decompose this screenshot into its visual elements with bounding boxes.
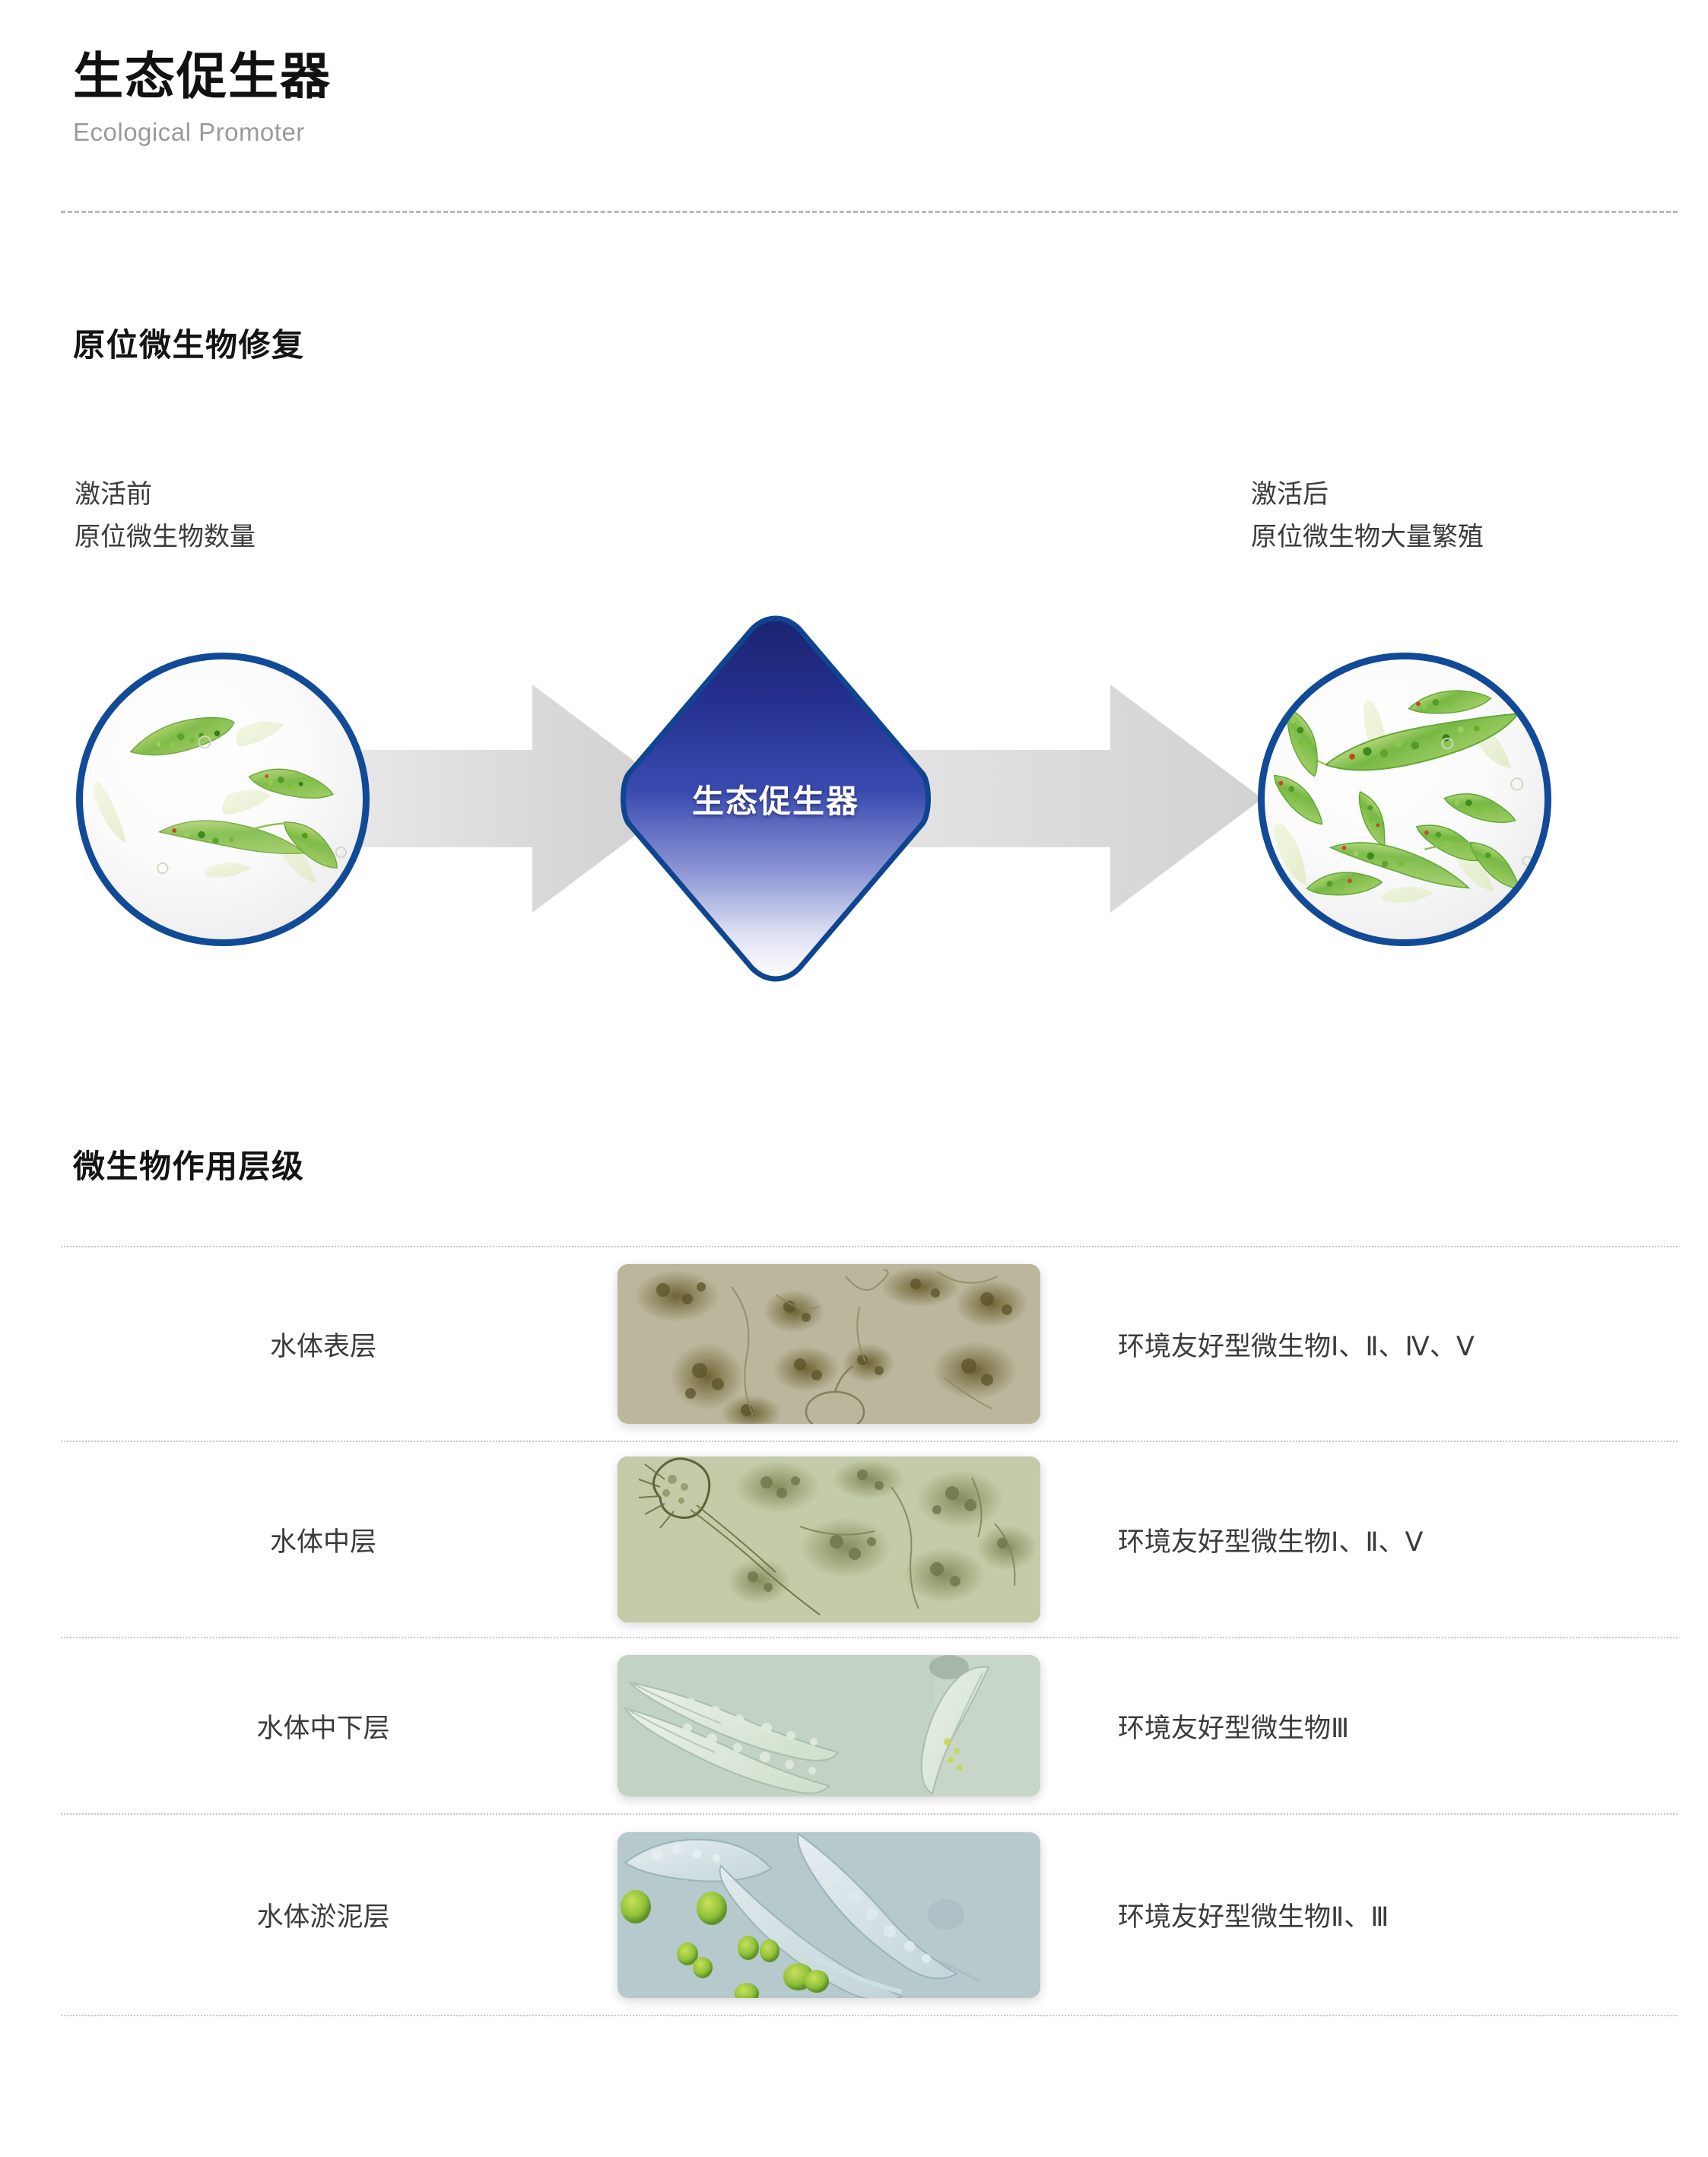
flow-label-before-line1: 激活前 — [75, 473, 256, 516]
table-row: 水体中层 — [61, 1442, 1678, 1638]
flow-diagram: 激活前 原位微生物数量 激活后 原位微生物大量繁殖 — [0, 456, 1708, 1012]
layer-description: 环境友好型微生物Ⅰ、Ⅱ、Ⅴ — [1072, 1520, 1678, 1559]
layer-label: 水体中层 — [61, 1520, 586, 1559]
flow-label-before-line2: 原位微生物数量 — [75, 516, 256, 558]
flow-label-after-line2: 原位微生物大量繁殖 — [1251, 516, 1484, 558]
flow-label-after: 激活后 原位微生物大量繁殖 — [1251, 473, 1484, 558]
diamond-promoter: 生态促生器 — [612, 612, 939, 985]
table-row: 水体中下层 — [61, 1638, 1678, 1815]
layer-image-cell — [586, 1457, 1072, 1622]
layer-label: 水体淤泥层 — [61, 1895, 586, 1934]
layer-label: 水体中下层 — [61, 1707, 586, 1746]
layer-image-cell — [586, 1264, 1072, 1424]
flow-label-after-line1: 激活后 — [1251, 473, 1484, 516]
header-divider — [61, 211, 1678, 213]
circle-before-activation — [76, 653, 370, 946]
page-subtitle: Ecological Promoter — [73, 118, 332, 147]
layer-image-cell — [586, 1655, 1072, 1796]
microbe-layer-table: 水体表层 — [61, 1246, 1678, 2016]
flow-label-before: 激活前 原位微生物数量 — [75, 473, 256, 558]
diamond-label: 生态促生器 — [612, 612, 939, 985]
layer-label: 水体表层 — [61, 1325, 586, 1364]
table-row: 水体表层 — [61, 1246, 1678, 1442]
section-heading-microbe-layers: 微生物作用层级 — [73, 1141, 305, 1187]
circle-after-activation — [1258, 653, 1551, 946]
page-header: 生态促生器 Ecological Promoter — [73, 49, 332, 147]
micrograph-surface-layer — [617, 1264, 1040, 1424]
micrograph-lower-middle-layer — [617, 1655, 1040, 1796]
layer-image-cell — [586, 1832, 1072, 1998]
layer-description: 环境友好型微生物Ⅰ、Ⅱ、Ⅳ、Ⅴ — [1072, 1325, 1678, 1364]
table-row: 水体淤泥层 — [61, 1815, 1678, 2016]
page-root: 生态促生器 Ecological Promoter 原位微生物修复 激活前 原位… — [0, 0, 1708, 2157]
micrograph-middle-layer — [617, 1457, 1040, 1622]
page-title: 生态促生器 — [73, 49, 332, 104]
layer-description: 环境友好型微生物Ⅲ — [1072, 1707, 1678, 1746]
section-heading-insitu-remediation: 原位微生物修复 — [73, 319, 305, 366]
micrograph-sludge-layer — [617, 1832, 1040, 1998]
layer-description: 环境友好型微生物Ⅱ、Ⅲ — [1072, 1895, 1678, 1934]
